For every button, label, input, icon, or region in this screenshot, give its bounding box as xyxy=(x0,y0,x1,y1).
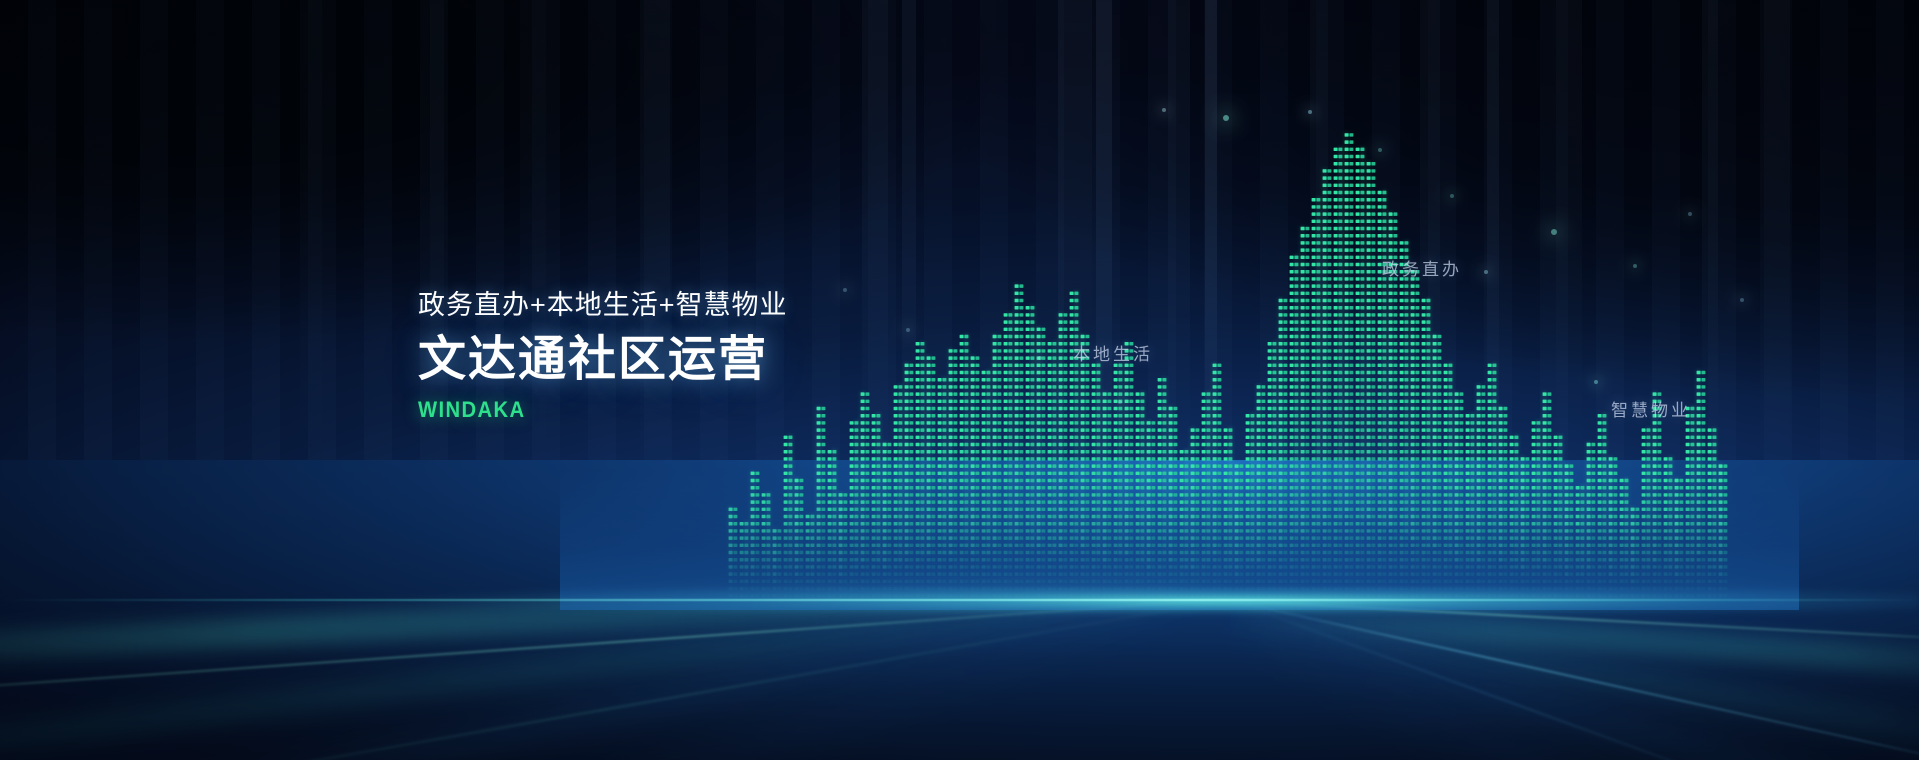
banner-title: 文达通社区运营 xyxy=(418,336,788,384)
floating-label-3: 智慧物业 xyxy=(1611,396,1691,421)
bar-dot-matrix xyxy=(0,0,1919,760)
banner-hero: 政务直办本地生活智慧物业 政务直办+本地生活+智慧物业 文达通社区运营 WIND… xyxy=(0,0,1919,760)
headline-block: 政务直办+本地生活+智慧物业 文达通社区运营 WINDAKA xyxy=(418,292,788,421)
floating-label-1: 政务直办 xyxy=(1382,255,1462,280)
brand-wordmark: WINDAKA xyxy=(418,399,758,421)
horizon-line xyxy=(0,599,1919,601)
horizon-glow xyxy=(0,588,1919,614)
floating-label-2: 本地生活 xyxy=(1073,340,1153,365)
dotted-bar-chart xyxy=(0,0,1919,760)
banner-subtitle: 政务直办+本地生活+智慧物业 xyxy=(418,292,788,319)
